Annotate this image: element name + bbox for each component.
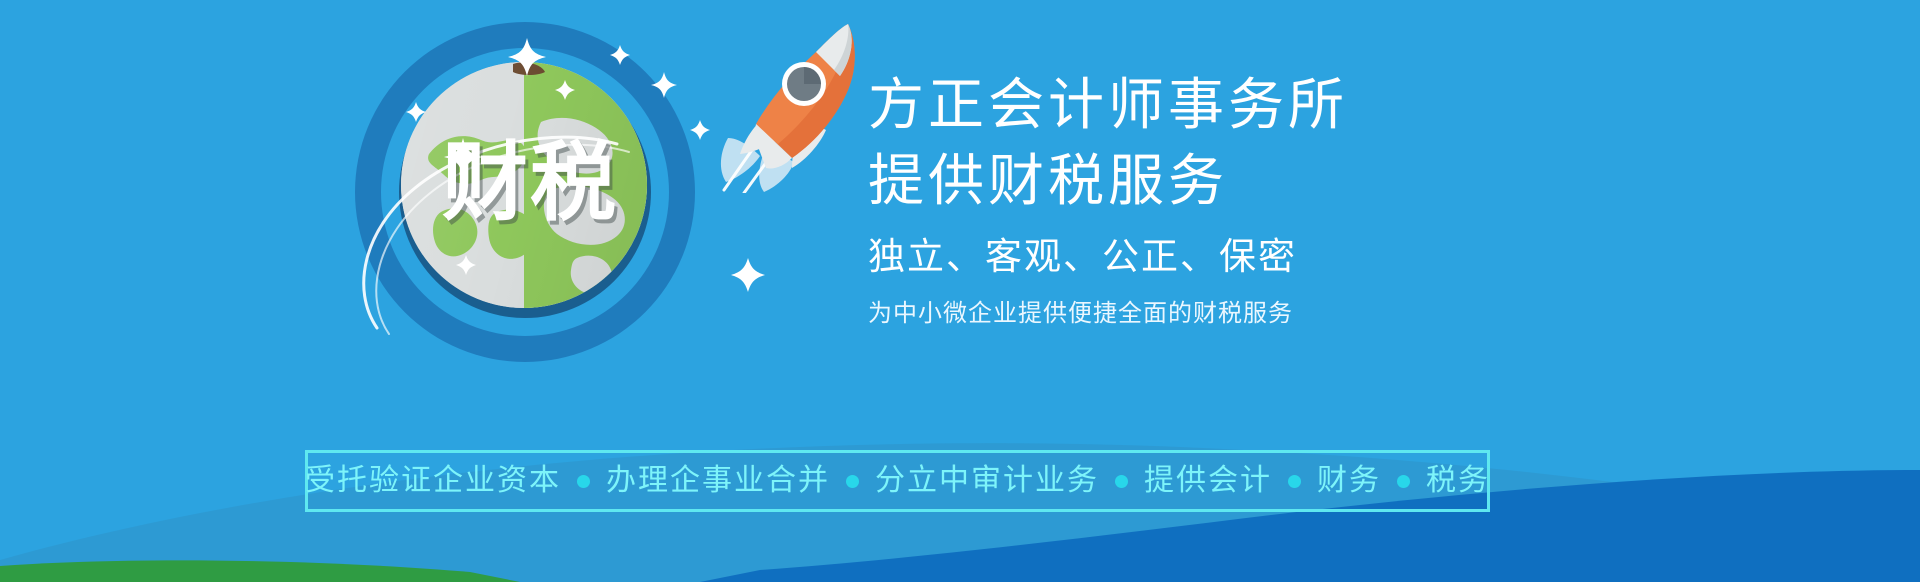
service-item: 财务 <box>1313 466 1385 496</box>
services-separator-dot <box>846 475 859 488</box>
services-separator-dot <box>1115 475 1128 488</box>
services-list: 受托验证企业资本办理企事业合并分立中审计业务提供会计财务税务 <box>301 466 1494 496</box>
globe-logo: 财税 <box>355 22 695 362</box>
services-box: 受托验证企业资本办理企事业合并分立中审计业务提供会计财务税务 <box>305 450 1490 512</box>
headline-line-1: 方正会计师事务所 <box>868 70 1568 142</box>
headline-line-2: 提供财税服务 <box>868 146 1568 218</box>
services-separator-dot <box>577 475 590 488</box>
headline-line-3: 独立、客观、公正、保密 <box>868 234 1568 280</box>
headline-block: 方正会计师事务所 提供财税服务 独立、客观、公正、保密 为中小微企业提供便捷全面… <box>868 70 1568 328</box>
globe-label: 财税 <box>405 140 655 226</box>
service-item: 受托验证企业资本 <box>301 466 565 496</box>
service-item: 分立中审计业务 <box>871 466 1103 496</box>
rocket-icon <box>718 18 868 193</box>
service-item: 办理企事业合并 <box>602 466 834 496</box>
services-separator-dot <box>1288 475 1301 488</box>
headline-subtitle: 为中小微企业提供便捷全面的财税服务 <box>868 298 1568 328</box>
service-item: 提供会计 <box>1140 466 1276 496</box>
services-separator-dot <box>1397 475 1410 488</box>
promo-banner: 财税 <box>0 0 1920 582</box>
service-item: 税务 <box>1422 466 1494 496</box>
